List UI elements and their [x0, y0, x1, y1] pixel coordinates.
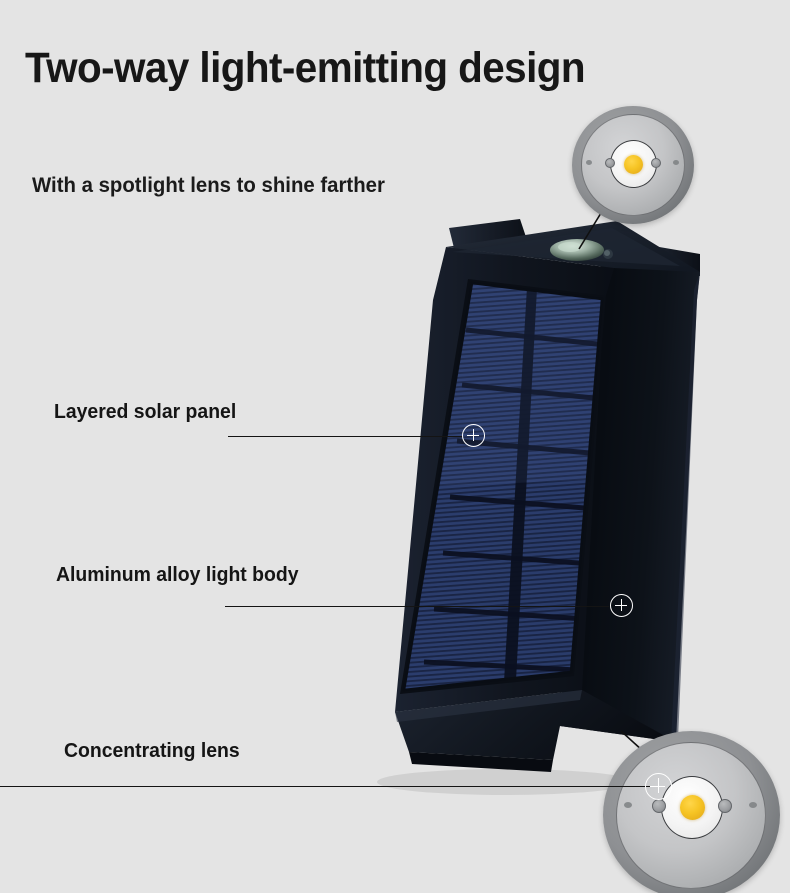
spotlight-lens-detail — [572, 106, 694, 224]
callout-label-concentrating-lens: Concentrating lens — [64, 740, 240, 763]
lens-screw-right — [718, 799, 732, 813]
callout-label-solar-panel: Layered solar panel — [54, 401, 236, 424]
concentrating-lens-detail — [603, 731, 780, 893]
leader-line-lens — [0, 786, 650, 787]
crosshair-icon-solar-panel — [462, 424, 485, 447]
lens-notch-left — [624, 802, 632, 808]
infographic-canvas: Two-way light-emitting design With a spo… — [0, 0, 790, 893]
crosshair-icon-light-body — [610, 594, 633, 617]
lens-notch-right — [673, 160, 679, 165]
lens-notch-right — [749, 802, 757, 808]
leader-line-light-body — [225, 606, 609, 607]
lens-screw-left — [605, 158, 615, 168]
lens-screw-left — [652, 799, 666, 813]
leader-line-solar-panel — [228, 436, 462, 437]
lens-notch-left — [586, 160, 592, 165]
callout-label-light-body: Aluminum alloy light body — [56, 564, 299, 587]
lens-screw-right — [651, 158, 661, 168]
crosshair-icon-lens — [645, 773, 672, 800]
led-chip — [680, 795, 705, 820]
led-chip — [624, 155, 643, 174]
